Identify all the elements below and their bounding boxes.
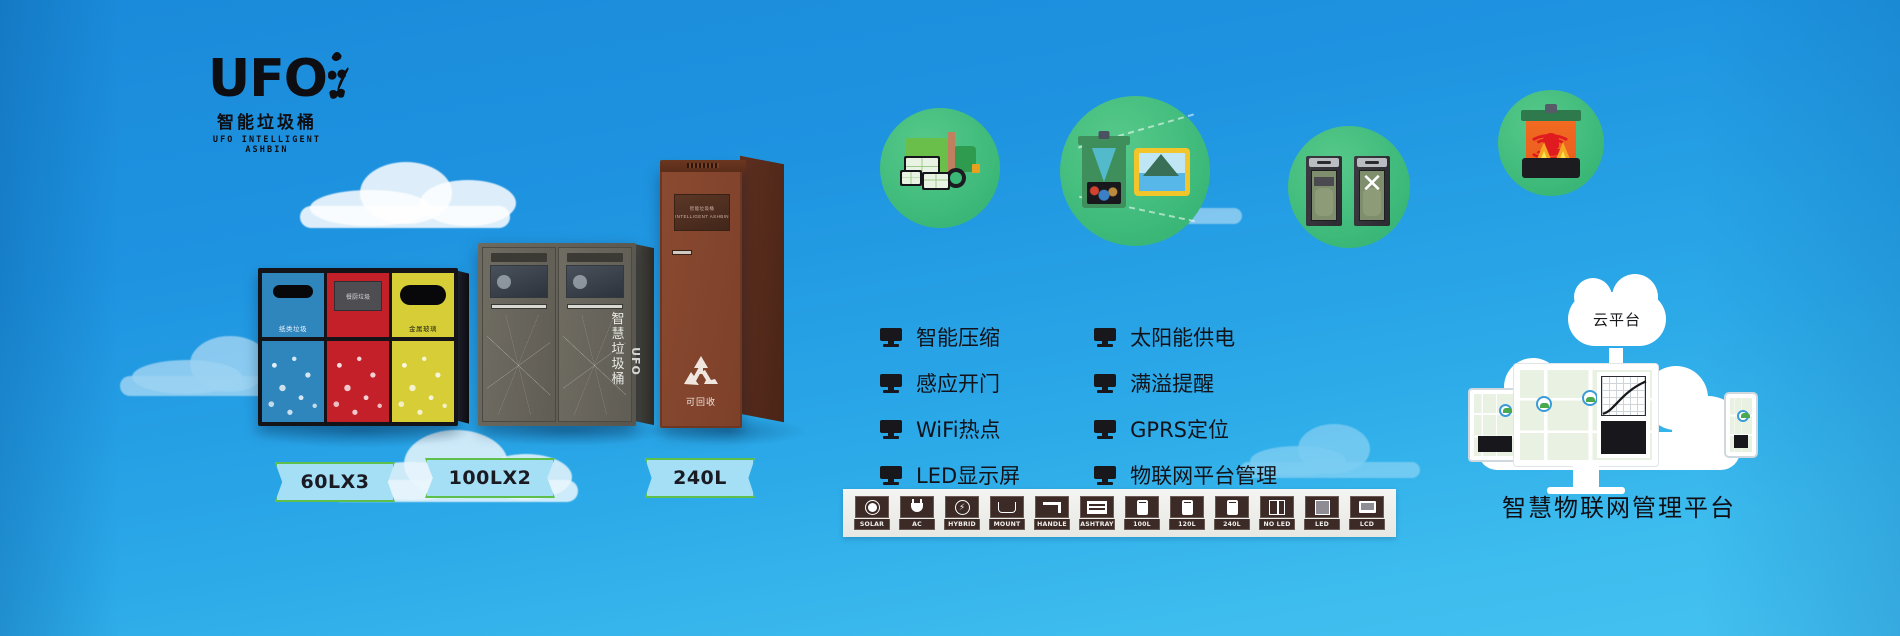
desktop-monitor xyxy=(1514,364,1658,466)
feature-column-right: 太阳能供电 满溢提醒 GPRS定位 物联网平台管理 xyxy=(1094,322,1277,490)
hybrid-power-icon: ⚡ xyxy=(945,496,979,518)
handle-icon xyxy=(1035,496,1069,518)
map-pin-icon xyxy=(1536,396,1552,412)
capacity-banner-60lx3: 60LX3 xyxy=(275,462,395,502)
no-led-icon xyxy=(1260,496,1294,518)
feature-circle-fire-alarm-detection xyxy=(1498,90,1604,196)
capacity-banner-240l: 240L xyxy=(645,458,755,498)
bin-compartment-kitchen: 餐厨垃圾 xyxy=(327,273,389,422)
lcd-icon xyxy=(1350,496,1384,518)
feature-label: 太阳能供电 xyxy=(1130,322,1235,352)
spec-item-hybrid[interactable]: ⚡ HYBRID xyxy=(943,496,981,530)
bin-100l-icon xyxy=(1125,496,1159,518)
spec-label: NO LED xyxy=(1259,519,1295,530)
recycle-icon xyxy=(681,354,721,390)
product-single-brown-bin: 智能垃圾桶 INTELLIGENT ASHBIN 可回收 xyxy=(660,166,742,428)
truck-bumper xyxy=(972,164,980,173)
spec-label: 240L xyxy=(1214,519,1250,530)
left-vignette xyxy=(0,0,120,636)
feature-column-left: 智能压缩 感应开门 WiFi热点 LED显示屏 xyxy=(880,322,1020,490)
feature-label: 感应开门 xyxy=(916,368,1000,398)
spec-label: HANDLE xyxy=(1034,519,1070,530)
monitor-icon xyxy=(1094,374,1116,392)
mount-icon xyxy=(990,496,1024,518)
map-pin-icon xyxy=(1499,404,1512,417)
spec-item-led[interactable]: LED xyxy=(1303,496,1341,530)
compression-bin-before-icon xyxy=(1306,156,1342,226)
map-pin-icon xyxy=(1737,410,1749,422)
monitor-icon xyxy=(880,420,902,438)
spec-label: HYBRID xyxy=(944,519,980,530)
monitor-map-view xyxy=(1520,370,1652,460)
recycle-label: 可回收 xyxy=(662,395,740,408)
feature-circle-waste-compression: ✕ xyxy=(1288,126,1410,248)
bin-screen-line2: INTELLIGENT ASHBIN xyxy=(675,214,729,219)
cloud-platform-bubble: 云平台 xyxy=(1568,292,1666,346)
spec-item-lcd[interactable]: LCD xyxy=(1348,496,1386,530)
feature-item: WiFi热点 xyxy=(880,414,1020,444)
sun-icon xyxy=(855,496,889,518)
bin-screen-line1: 智能垃圾桶 xyxy=(690,206,715,212)
spec-icon-strip: SOLAR AC ⚡ HYBRID MOUNT HANDLE ASHTRAY 1… xyxy=(843,489,1396,537)
area-chart-icon xyxy=(1601,421,1646,454)
feature-item: LED显示屏 xyxy=(880,460,1020,490)
bin-240l-icon xyxy=(1215,496,1249,518)
compression-bin-after-icon: ✕ xyxy=(1354,156,1390,226)
led-icon xyxy=(1305,496,1339,518)
spec-item-ashtray[interactable]: ASHTRAY xyxy=(1078,496,1116,530)
map-pin-icon xyxy=(1582,390,1598,406)
bin-brand-mark: UFO xyxy=(629,347,642,376)
plug-icon xyxy=(900,496,934,518)
product-double-compartment-bin: 智慧垃圾桶 UFO xyxy=(478,243,636,426)
spec-label: 120L xyxy=(1169,519,1205,530)
spec-item-240l[interactable]: 240L xyxy=(1213,496,1251,530)
logo-wordmark: UFO xyxy=(208,54,327,104)
mobile-phone-device xyxy=(1724,392,1758,458)
cloud-platform-label: 云平台 xyxy=(1593,309,1641,330)
bin-120l-icon xyxy=(1170,496,1204,518)
feature-label: 物联网平台管理 xyxy=(1130,460,1277,490)
feature-item: GPRS定位 xyxy=(1094,414,1277,444)
fire-alarm-icon xyxy=(1526,110,1576,178)
monitor-icon xyxy=(1094,466,1116,484)
feature-circle-smart-collection-vehicle xyxy=(880,108,1000,228)
product-three-compartment-bin: 纸类垃圾 餐厨垃圾 金属玻璃 xyxy=(258,268,458,426)
spec-item-ac[interactable]: AC xyxy=(898,496,936,530)
logo-english-name: UFO INTELLIGENT ASHBIN xyxy=(208,135,326,155)
spec-label: AC xyxy=(899,519,935,530)
feature-label: WiFi热点 xyxy=(916,414,1001,444)
feature-label: 智能压缩 xyxy=(916,322,1000,352)
spec-label: ASHTRAY xyxy=(1079,519,1115,530)
spec-item-solar[interactable]: SOLAR xyxy=(853,496,891,530)
feature-item: 物联网平台管理 xyxy=(1094,460,1277,490)
fill-level-display-icon xyxy=(1134,148,1190,196)
monitor-chart-panel xyxy=(1597,372,1650,458)
bin-compartment-metal-glass: 金属玻璃 xyxy=(392,273,454,422)
brand-logo: UFO 智能垃圾桶 UFO INTELLIGENT ASHBIN xyxy=(208,52,328,155)
sensor-bin-icon xyxy=(1082,136,1126,208)
bin-display-screen: 智能垃圾桶 INTELLIGENT ASHBIN xyxy=(674,194,730,231)
spec-label: LCD xyxy=(1349,519,1385,530)
compartment-label: 纸类垃圾 xyxy=(279,323,307,333)
marketing-banner: UFO 智能垃圾桶 UFO INTELLIGENT ASHBIN 纸类垃圾 餐厨… xyxy=(0,0,1900,636)
compression-x-icon: ✕ xyxy=(1361,170,1383,196)
capacity-banner-100lx2: 100LX2 xyxy=(425,458,555,498)
spec-label: SOLAR xyxy=(854,519,890,530)
compartment-label: 金属玻璃 xyxy=(409,323,437,333)
bin-compartment-paper: 纸类垃圾 xyxy=(262,273,324,422)
bin-side-text: 智慧垃圾桶 xyxy=(611,312,626,387)
platform-title: 智慧物联网管理平台 xyxy=(1454,488,1784,523)
feature-circle-fill-level-sensor xyxy=(1060,96,1210,246)
spec-item-mount[interactable]: MOUNT xyxy=(988,496,1026,530)
monitor-icon xyxy=(1094,420,1116,438)
spec-label: MOUNT xyxy=(989,519,1025,530)
spec-label: LED xyxy=(1304,519,1340,530)
feature-item: 感应开门 xyxy=(880,368,1020,398)
tablet-device-icon xyxy=(922,172,950,190)
laptop-device-icon xyxy=(900,170,922,186)
monitor-icon xyxy=(880,466,902,484)
feature-label: 满溢提醒 xyxy=(1130,368,1214,398)
feature-item: 太阳能供电 xyxy=(1094,322,1277,352)
feature-item: 满溢提醒 xyxy=(1094,368,1277,398)
feature-label: LED显示屏 xyxy=(916,460,1020,490)
line-chart-icon xyxy=(1601,376,1648,416)
logo-wordmark-row: UFO xyxy=(208,52,328,106)
bin-unit-right: 智慧垃圾桶 xyxy=(558,247,632,422)
spec-item-120l[interactable]: 120L xyxy=(1168,496,1206,530)
spec-item-handle[interactable]: HANDLE xyxy=(1033,496,1071,530)
bin-unit-left xyxy=(482,247,556,422)
monitor-icon xyxy=(1094,328,1116,346)
monitor-icon xyxy=(880,328,902,346)
ashtray-icon xyxy=(1080,496,1114,518)
spec-label: 100L xyxy=(1124,519,1160,530)
iot-platform-illustration: 云平台 xyxy=(1468,292,1768,522)
monitor-icon xyxy=(880,374,902,392)
spec-item-100l[interactable]: 100L xyxy=(1123,496,1161,530)
logo-chinese-name: 智能垃圾桶 xyxy=(208,108,326,133)
feature-item: 智能压缩 xyxy=(880,322,1020,352)
feature-list: 智能压缩 感应开门 WiFi热点 LED显示屏 太阳能供电 满溢提醒 xyxy=(880,322,1277,490)
cloud-decoration xyxy=(300,150,530,230)
compartment-label: 餐厨垃圾 xyxy=(346,292,370,301)
spec-item-no-led[interactable]: NO LED xyxy=(1258,496,1296,530)
feature-label: GPRS定位 xyxy=(1130,414,1229,444)
